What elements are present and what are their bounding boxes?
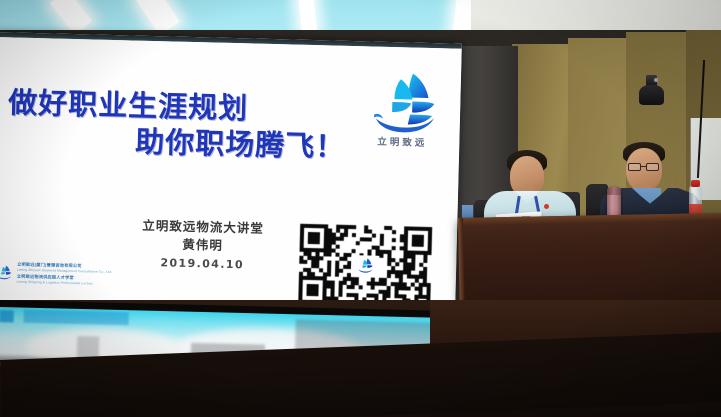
wall-speaker: [638, 73, 665, 105]
eyeglasses-lens-left: [628, 163, 641, 171]
projection-screen: 做好职业生涯规划 助你职场腾飞！: [0, 32, 462, 316]
ceiling-light-3: [298, 0, 317, 33]
speaker-indicator-icon: [654, 78, 658, 82]
eyeglasses-lens-right: [646, 163, 659, 171]
thermos-cap: [607, 187, 621, 195]
stage-floor: [0, 300, 721, 417]
slide-subtitle-block: 立明致远物流大讲堂 黄伟明 2019.04.10: [102, 216, 303, 275]
sailing-ship-icon: [360, 68, 448, 136]
speaker-body: [639, 85, 664, 105]
lapel-pin: [544, 204, 549, 209]
slide-headline: 做好职业生涯规划 助你职场腾飞！: [1, 85, 363, 166]
sailing-ship-icon: [353, 257, 377, 274]
watermark-line-2-en: Liming Shipping & Logistics Professional…: [17, 279, 112, 286]
reflection-blue-1: [0, 310, 14, 322]
presentation-slide: 做好职业生涯规划 助你职场腾飞！: [0, 37, 462, 309]
reflection-blue-2: [24, 310, 129, 326]
eyeglasses-bridge: [641, 166, 646, 167]
logo-text: 立明致远: [359, 133, 445, 149]
sailing-ship-icon: [0, 263, 14, 282]
lecture-hall-photo: 做好职业生涯规划 助你职场腾飞！: [0, 0, 721, 417]
qr-code: [295, 223, 435, 308]
footer-watermark: 立明致远(厦门)管理咨询有限公司 Liming Zhiyuan (Xiamen)…: [0, 259, 120, 288]
liming-zhiyuan-logo: 立明致远: [359, 68, 447, 148]
watermark-text-lines: 立明致远(厦门)管理咨询有限公司 Liming Zhiyuan (Xiamen)…: [17, 261, 113, 286]
bottle-cap: [691, 180, 700, 187]
headline-line-2: 助你职场腾飞！: [1, 121, 362, 166]
qr-center-logo: [351, 255, 379, 276]
